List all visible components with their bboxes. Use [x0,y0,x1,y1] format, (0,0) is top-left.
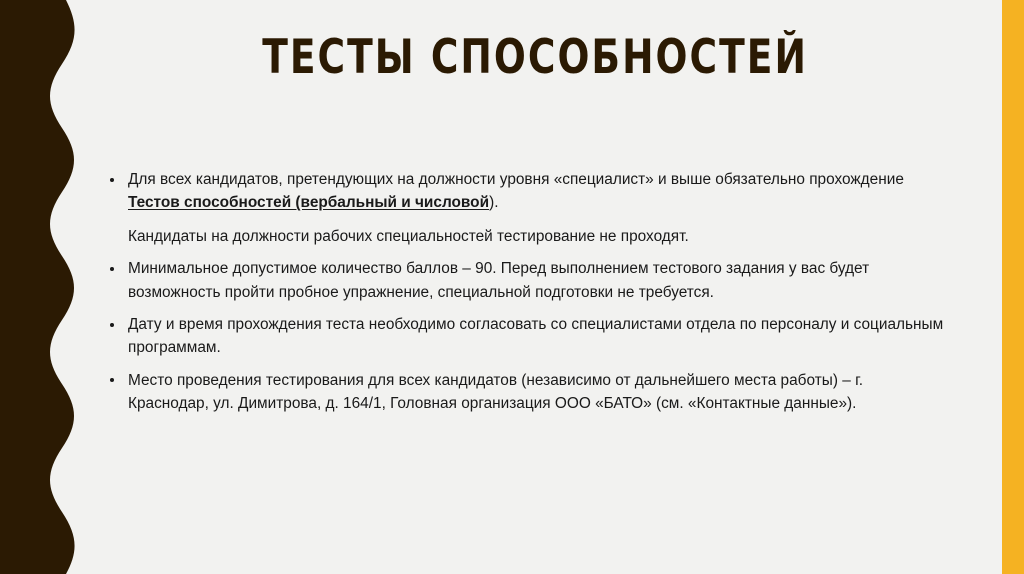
bullet-1-lead: Для всех кандидатов, претендующих на дол… [128,171,904,188]
list-item: Дату и время прохождения теста необходим… [106,313,944,360]
bullet-1-text: Для всех кандидатов, претендующих на дол… [128,168,944,215]
bullet-1-tail: ). [489,194,498,211]
bullet-4-text: Место проведения тестирования для всех к… [128,369,944,416]
page-title: ТЕСТЫ СПОСОБНОСТЕЙ [262,34,808,81]
title-container: ТЕСТЫ СПОСОБНОСТЕЙ [90,18,980,96]
bullet-dot-icon [110,378,114,382]
bullet-2-text: Минимальное допустимое количество баллов… [128,257,944,304]
list-item: Для всех кандидатов, претендующих на дол… [106,168,944,248]
bullet-3-text: Дату и время прохождения теста необходим… [128,313,944,360]
list-item: Место проведения тестирования для всех к… [106,369,944,416]
bullet-dot-icon [110,267,114,271]
bullet-list: Для всех кандидатов, претендующих на дол… [106,168,944,416]
orange-vertical-bar-decoration [1002,0,1024,574]
wavy-brown-band-decoration [0,0,90,574]
bullet-1-sub-paragraph: Кандидаты на должности рабочих специальн… [128,225,944,248]
bullet-dot-icon [110,178,114,182]
list-item: Минимальное допустимое количество баллов… [106,257,944,304]
bullet-1-emphasis: Тестов способностей (вербальный и числов… [128,194,489,211]
slide-body: Для всех кандидатов, претендующих на дол… [106,168,944,416]
bullet-dot-icon [110,323,114,327]
slide: ТЕСТЫ СПОСОБНОСТЕЙ Для всех кандидатов, … [0,0,1024,574]
